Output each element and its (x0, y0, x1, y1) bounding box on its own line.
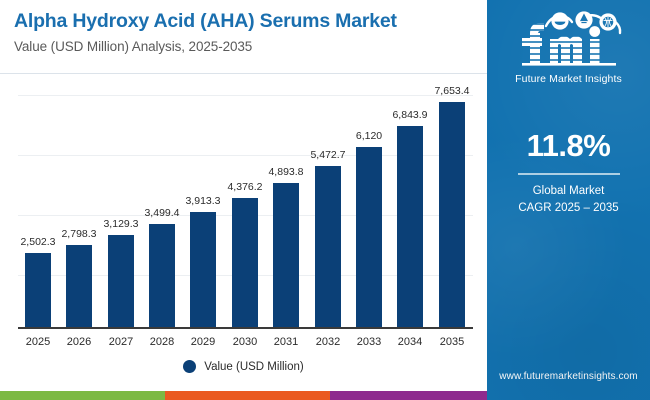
chart-subtitle: Value (USD Million) Analysis, 2025-2035 (14, 39, 479, 54)
footer-strip-orange (165, 391, 330, 400)
bar-value-label: 6,120 (343, 130, 395, 142)
chart-header: Alpha Hydroxy Acid (AHA) Serums Market V… (14, 10, 479, 54)
cagr-caption-line1: Global Market (487, 183, 650, 200)
bar-group: 7,653.42035 (432, 80, 472, 327)
bar-value-label: 4,893.8 (260, 166, 312, 178)
legend-label: Value (USD Million) (204, 361, 303, 373)
bar[interactable] (273, 183, 299, 327)
bar-group: 4,893.82031 (266, 80, 306, 327)
bar-group: 6,1202033 (349, 80, 389, 327)
bar-value-label: 6,843.9 (384, 109, 436, 121)
fmi-logo-icon (508, 9, 630, 71)
bar-value-label: 3,499.4 (136, 207, 188, 219)
bar-group: 5,472.72032 (308, 80, 348, 327)
fmi-logo-caption: Future Market Insights (515, 73, 622, 85)
page-title: Alpha Hydroxy Acid (AHA) Serums Market (14, 10, 479, 33)
website-url: www.futuremarketinsights.com (487, 371, 650, 382)
cagr-caption-line2: CAGR 2025 – 2035 (487, 200, 650, 217)
bar[interactable] (315, 166, 341, 327)
bar[interactable] (397, 126, 423, 327)
bar-series: 2,502.320252,798.320263,129.320273,499.4… (18, 80, 473, 350)
bar-chart-plot: 2,502.320252,798.320263,129.320273,499.4… (0, 80, 487, 350)
chart-infographic: Alpha Hydroxy Acid (AHA) Serums Market V… (0, 0, 650, 400)
bar[interactable] (25, 253, 51, 327)
footer-strip-purple (330, 391, 487, 400)
fmi-logo: Future Market Insights (487, 9, 650, 85)
bar-value-label: 5,472.7 (302, 149, 354, 161)
bar-group: 6,843.92034 (390, 80, 430, 327)
bar-group: 3,499.42028 (142, 80, 182, 327)
bar-value-label: 3,129.3 (95, 218, 147, 230)
bar-group: 4,376.22030 (225, 80, 265, 327)
footer-strip-green (0, 391, 165, 400)
bar-group: 2,502.32025 (18, 80, 58, 327)
chart-legend: Value (USD Million) (0, 360, 487, 373)
bar[interactable] (149, 224, 175, 327)
chart-panel: Alpha Hydroxy Acid (AHA) Serums Market V… (0, 0, 487, 400)
brand-sidebar: Future Market Insights 11.8% Global Mark… (487, 0, 650, 400)
bar[interactable] (108, 235, 134, 327)
bar-value-label: 3,913.3 (177, 195, 229, 207)
bar-group: 3,913.32029 (183, 80, 223, 327)
cagr-block: 11.8% Global Market CAGR 2025 – 2035 (487, 128, 650, 217)
cagr-value: 11.8% (487, 128, 650, 164)
bar[interactable] (190, 212, 216, 327)
cagr-divider (518, 173, 620, 175)
bar[interactable] (356, 147, 382, 327)
bar[interactable] (232, 198, 258, 327)
bar-value-label: 4,376.2 (219, 181, 271, 193)
bar-value-label: 7,653.4 (426, 85, 478, 97)
bar-group: 2,798.32026 (59, 80, 99, 327)
bar-group: 3,129.32027 (101, 80, 141, 327)
bar[interactable] (66, 245, 92, 327)
x-axis-tick-label: 2035 (426, 336, 478, 348)
header-divider (0, 73, 487, 74)
legend-color-swatch-icon (183, 360, 196, 373)
bar[interactable] (439, 102, 465, 327)
